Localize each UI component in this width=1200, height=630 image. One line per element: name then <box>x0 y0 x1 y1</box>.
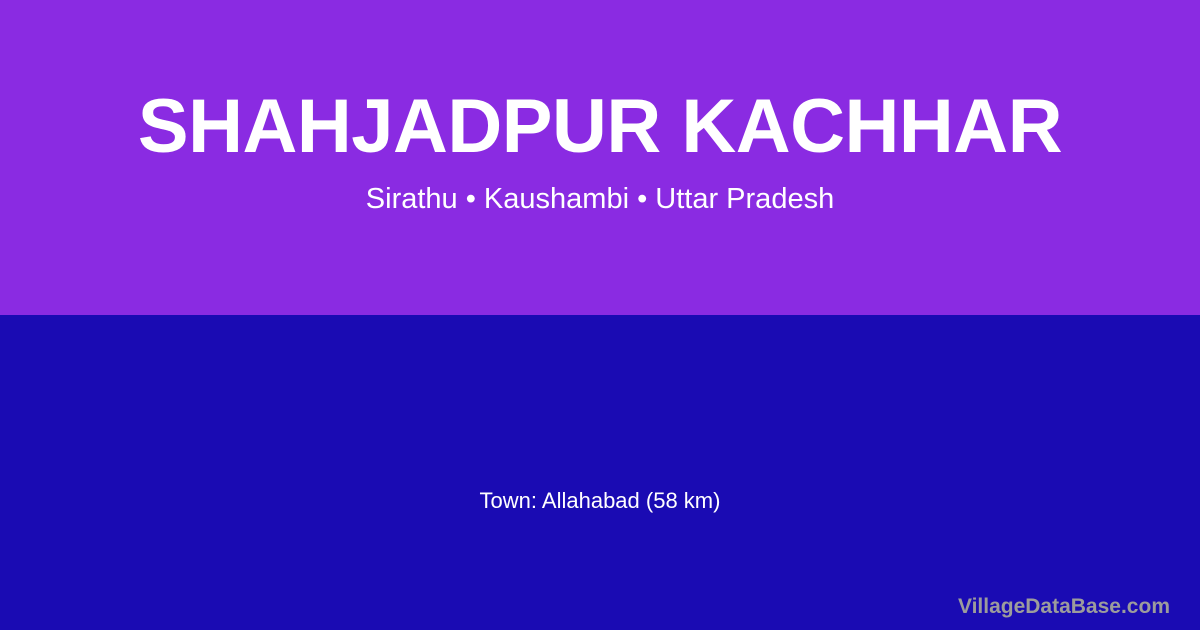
header-banner: SHAHJADPUR KACHHAR Sirathu • Kaushambi •… <box>0 0 1200 315</box>
page-title: SHAHJADPUR KACHHAR <box>0 82 1200 172</box>
location-breadcrumb: Sirathu • Kaushambi • Uttar Pradesh <box>0 180 1200 218</box>
site-watermark: VillageDataBase.com <box>958 594 1170 620</box>
nearest-town-label: Town: Allahabad (58 km) <box>0 487 1200 515</box>
card-body: Town: Allahabad (58 km) <box>0 315 1200 630</box>
village-info-card: SHAHJADPUR KACHHAR Sirathu • Kaushambi •… <box>0 0 1200 630</box>
